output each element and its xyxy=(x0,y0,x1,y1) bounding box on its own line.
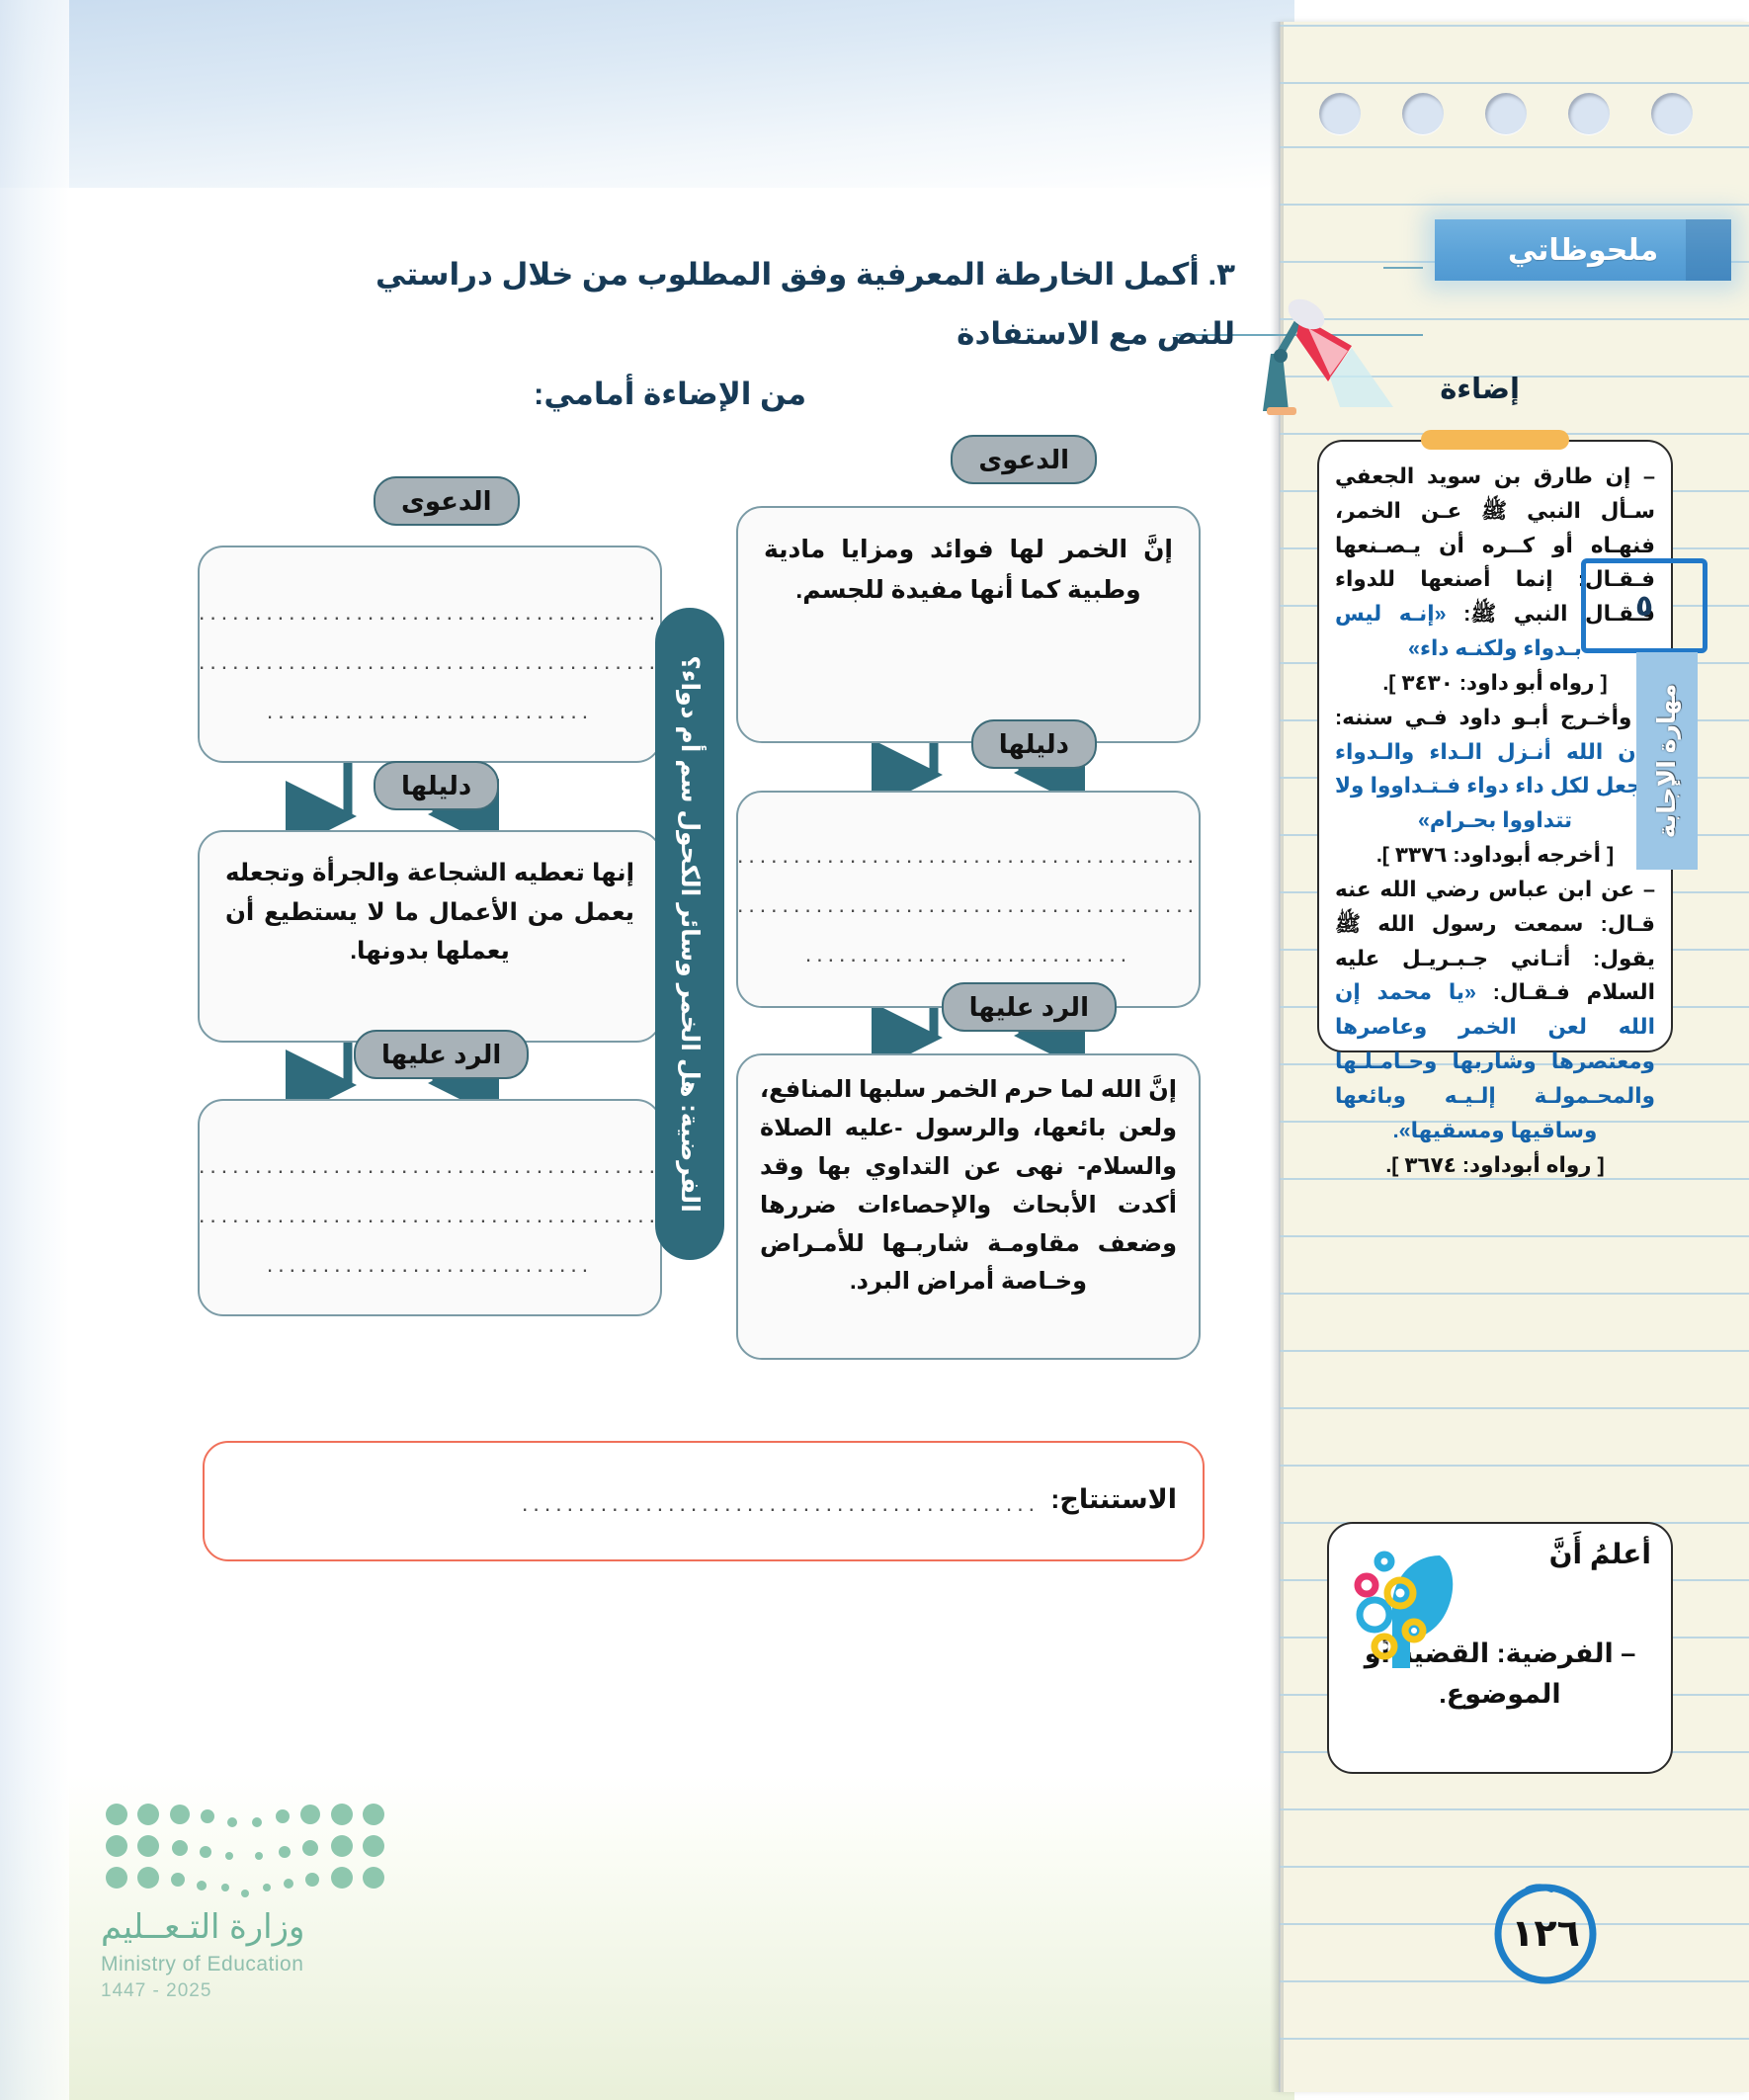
blank-dots-line: ........................................… xyxy=(738,842,1199,869)
brain-gears-icon xyxy=(1345,1538,1493,1686)
blank-dots-line: ............................. xyxy=(738,941,1199,967)
badge-evidence-left: دليلها xyxy=(374,761,499,810)
card-clip xyxy=(1421,430,1569,450)
unit-number: ٥ xyxy=(1635,589,1653,624)
card-response-right: إنَّ الله لما حرم الخمر سلبها المنافع، و… xyxy=(736,1053,1201,1360)
card-response-left-blank[interactable]: ........................................… xyxy=(198,1099,662,1316)
ministry-logo-year: 2025 - 1447 xyxy=(101,1980,211,2002)
badge-claim-right: الدعوى xyxy=(951,435,1097,484)
card-response-right-text: إنَّ الله لما حرم الخمر سلبها المنافع، و… xyxy=(738,1055,1199,1317)
illumination-paragraph-2: – وأخـرج أبـو داود فـي سننه: «إن الله أن… xyxy=(1335,701,1655,838)
badge-evidence-right: دليلها xyxy=(971,719,1097,769)
card-claim-right: إنَّ الخمر لها فوائد ومزايا مادية وطبية … xyxy=(736,506,1201,743)
hypothesis-bar: الفرضية: هل الخمر وسائر الكحول سم أم دوا… xyxy=(655,608,724,1260)
conclusion-box[interactable]: الاستنتاج: .............................… xyxy=(203,1441,1205,1561)
ministry-logo-english: Ministry of Education xyxy=(101,1953,303,1976)
knowledge-map-diagram: الفرضية: هل الخمر وسائر الكحول سم أم دوا… xyxy=(0,0,1294,1581)
ministry-logo-arabic: وزارة التـعــليم xyxy=(101,1907,304,1947)
notes-tab-label: ملحوظاتي xyxy=(1508,233,1658,268)
tab-rule-stub xyxy=(1383,267,1423,269)
illumination-card: – إن طارق بن سويد الجعفي سـأل النبي ﷺ عـ… xyxy=(1317,440,1673,1052)
illum-quote-3: «يا محمد إن الله لعن الخمر وعاصرها ومعتص… xyxy=(1335,980,1655,1141)
blank-dots-line: ........................................… xyxy=(738,891,1199,918)
page-number-value: ١٢٦ xyxy=(1490,1878,1601,1988)
badge-response-left-label: الرد عليها xyxy=(381,1040,501,1070)
badge-claim-left: الدعوى xyxy=(374,476,520,526)
badge-claim-left-label: الدعوى xyxy=(401,486,492,517)
binder-holes xyxy=(1280,93,1749,152)
illum-quote-2: «إن الله أنـزل الـداء والـدواء وجعل لكل … xyxy=(1335,740,1655,833)
binder-hole xyxy=(1568,93,1610,134)
side-bookmark-label: مهارة الإجابة xyxy=(1652,684,1682,839)
card-evidence-left-text: إنها تعطيه الشجاعة والجرأة وتجعله يعمل م… xyxy=(200,832,660,993)
badge-evidence-left-label: دليلها xyxy=(401,771,471,801)
conclusion-dots: ........................................… xyxy=(521,1490,1040,1517)
illumination-ref-1: [ رواه أبو داود: ٣٤٣٠ ]. xyxy=(1335,666,1655,701)
lamp-label: إضاءة xyxy=(1440,372,1520,406)
blank-dots-line: ........................................… xyxy=(200,648,660,675)
illumination-ref-3: [ رواه أبوداود: ٣٦٧٤ ]. xyxy=(1335,1148,1655,1183)
illumination-paragraph-3: – عن ابن عباس رضي الله عنه قـال: سمعت رس… xyxy=(1335,873,1655,1148)
card-claim-right-text: إنَّ الخمر لها فوائد ومزايا مادية وطبية … xyxy=(738,508,1199,631)
blank-dots-line: ........................................… xyxy=(200,599,660,626)
binder-hole xyxy=(1402,93,1444,134)
side-bookmark-tab[interactable]: مهارة الإجابة xyxy=(1636,652,1698,870)
unit-number-box: ٥ xyxy=(1581,558,1707,653)
blank-dots-line: ............................. xyxy=(200,1251,660,1278)
hypothesis-label: الفرضية: هل الخمر وسائر الكحول سم أم دوا… xyxy=(675,655,705,1213)
binder-hole xyxy=(1319,93,1361,134)
card-evidence-right-blank[interactable]: ........................................… xyxy=(736,791,1201,1008)
badge-claim-right-label: الدعوى xyxy=(978,445,1069,475)
card-evidence-left: إنها تعطيه الشجاعة والجرأة وتجعله يعمل م… xyxy=(198,830,662,1043)
binder-hole xyxy=(1651,93,1693,134)
notes-tab[interactable]: ملحوظاتي xyxy=(1435,219,1731,281)
i-know-that-card: أعلمُ أَنَّ – الفرضية: القضية أو الموضوع… xyxy=(1327,1522,1673,1774)
badge-response-left: الرد عليها xyxy=(354,1030,529,1079)
notes-tab-edge xyxy=(1686,219,1731,281)
illumination-ref-2: [ أخرجه أبوداود: ٣٣٧٦ ]. xyxy=(1335,838,1655,873)
blank-dots-line: ........................................… xyxy=(200,1152,660,1179)
badge-response-right: الرد عليها xyxy=(942,982,1117,1032)
binder-hole xyxy=(1485,93,1527,134)
page-number: ١٢٦ xyxy=(1490,1878,1601,1988)
ministry-logo-dots-icon xyxy=(99,1797,395,1905)
card-claim-left-blank[interactable]: ........................................… xyxy=(198,546,662,763)
badge-response-right-label: الرد عليها xyxy=(969,992,1089,1023)
badge-evidence-right-label: دليلها xyxy=(999,729,1069,760)
blank-dots-line: ............................. xyxy=(200,698,660,724)
conclusion-label: الاستنتاج: xyxy=(1050,1484,1177,1515)
ministry-logo: وزارة التـعــليم Ministry of Education 2… xyxy=(99,1797,395,2004)
blank-dots-line: ........................................… xyxy=(200,1202,660,1228)
illum-text-2: – وأخـرج أبـو داود فـي سننه: xyxy=(1335,706,1655,729)
textbook-page: ملحوظاتي إضاءة – إن طارق بن سويد الجعفي … xyxy=(0,0,1749,2100)
